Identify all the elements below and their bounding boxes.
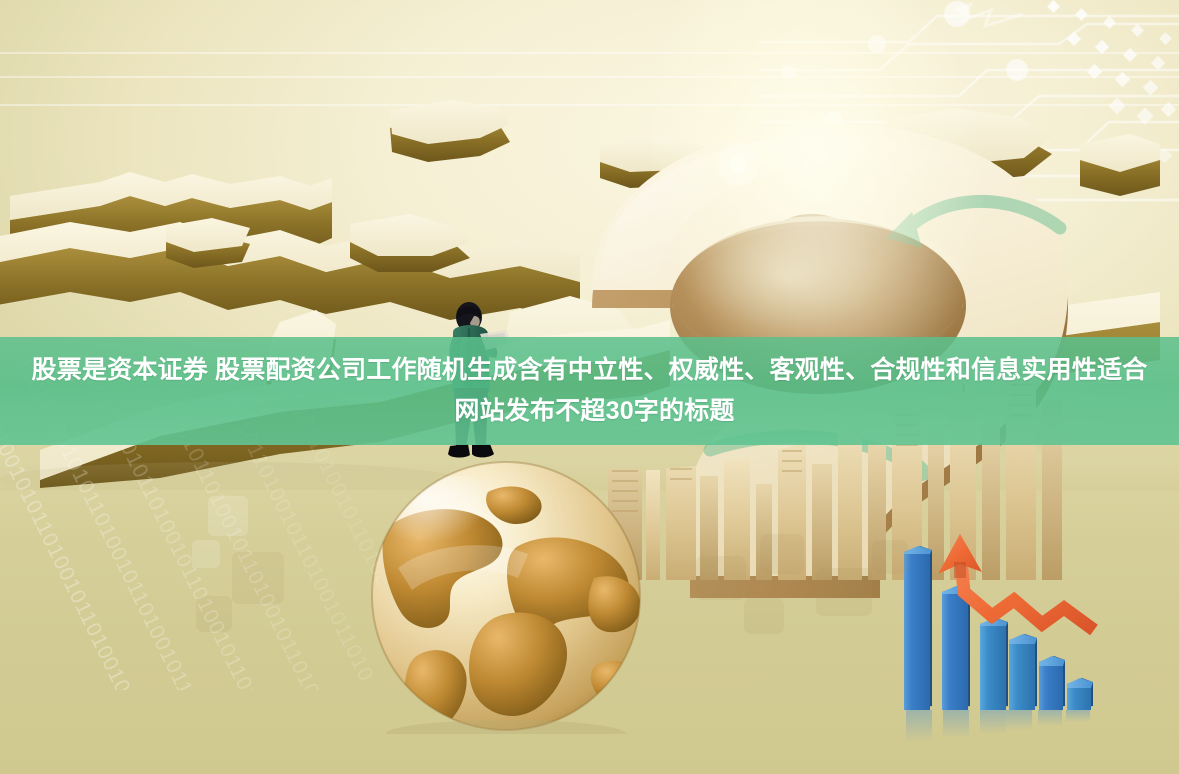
decor-square xyxy=(744,598,784,634)
banner-image-canvas: 10110101001010110100101101001011010 1011… xyxy=(0,0,1179,774)
decor-stripe xyxy=(0,104,1179,106)
decor-square xyxy=(196,596,232,632)
decor-stripe xyxy=(0,52,1179,54)
title-overlay-banner: 股票是资本证券 股票配资公司工作随机生成含有中立性、权威性、客观性、合规性和信息… xyxy=(0,337,1179,445)
decor-square xyxy=(208,496,248,536)
decor-square xyxy=(872,540,908,574)
decor-square xyxy=(760,534,804,574)
decor-stripe xyxy=(0,76,1179,78)
decor-square xyxy=(192,540,220,568)
banner-title-line-1: 股票是资本证券 股票配资公司工作随机生成含有中立性、权威性、客观性、合规性和信息… xyxy=(32,350,1148,391)
banner-title-line-2: 网站发布不超30字的标题 xyxy=(454,391,734,432)
decor-square xyxy=(816,568,872,616)
decor-square xyxy=(232,552,284,604)
decor-square xyxy=(696,556,746,600)
